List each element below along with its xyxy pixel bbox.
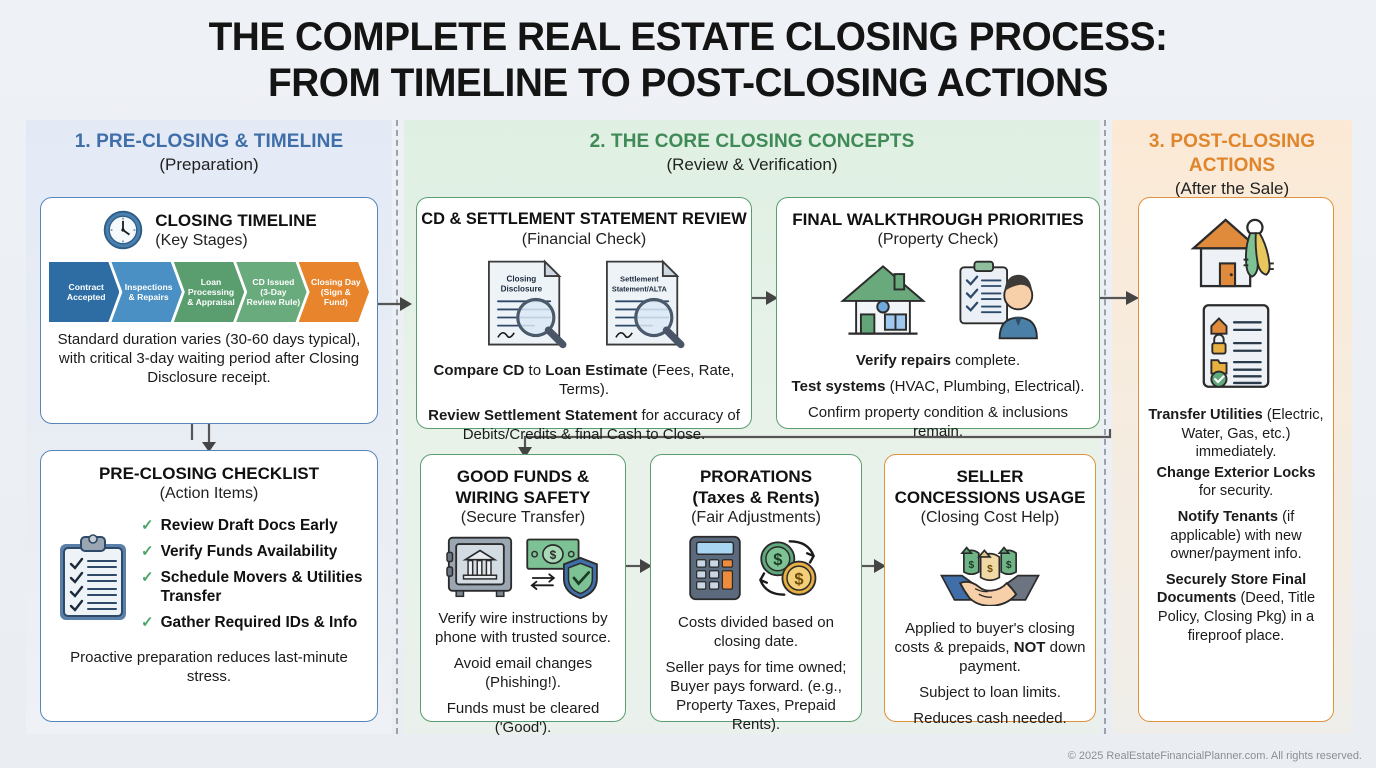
- secure-wire-transfer-icon: $: [523, 534, 603, 605]
- check-icon: ✓: [141, 516, 154, 535]
- coin-exchange-icon: $ $: [749, 534, 825, 607]
- timeline-note: Standard duration varies (30-60 days typ…: [55, 330, 363, 387]
- funds-subtitle: (Secure Transfer): [421, 508, 625, 528]
- column-2-subheading: (Review & Verification): [404, 154, 1100, 176]
- column-1-header: 1. PRE-CLOSING & TIMELINE (Preparation): [26, 130, 392, 176]
- walkthrough-body-line-3: Confirm property condition & inclusions …: [787, 403, 1089, 441]
- card-final-walkthrough[interactable]: FINAL WALKTHROUGH PRIORITIES (Property C…: [776, 197, 1100, 429]
- doc2-label-1: Settlement: [620, 274, 659, 283]
- house-keys-icon: [1184, 279, 1288, 296]
- settlement-statement-doc-icon: Settlement Statement/ALTA: [593, 258, 693, 355]
- checklist-item-2[interactable]: ✓Verify Funds Availability: [141, 542, 363, 561]
- doc1-label-1: Closing: [507, 274, 537, 283]
- column-3-heading: 3. POST-CLOSING ACTIONS: [1112, 130, 1352, 178]
- cd-icons: Closing Disclosure Settlement State: [417, 258, 751, 355]
- seller-body: Applied to buyer's closing costs & prepa…: [893, 619, 1087, 728]
- seller-title-1: SELLER: [885, 466, 1095, 487]
- doc1-label-2: Disclosure: [501, 284, 543, 293]
- copyright-footer: © 2025 RealEstateFinancialPlanner.com. A…: [1068, 750, 1362, 762]
- checklist-item-label: Verify Funds Availability: [161, 542, 338, 561]
- cd-subtitle: (Financial Check): [417, 230, 751, 250]
- svg-text:$: $: [987, 564, 993, 575]
- funds-body-line-3: Funds must be cleared ('Good').: [429, 699, 617, 737]
- clipboard-icon: [55, 532, 131, 624]
- walkthrough-icons: [777, 258, 1099, 347]
- post-item-1: Transfer Utilities (Electric, Water, Gas…: [1147, 406, 1325, 462]
- title-line-2: FROM TIMELINE TO POST-CLOSING ACTIONS: [21, 60, 1356, 106]
- timeline-stage-1[interactable]: Contract Accepted: [49, 262, 119, 322]
- clock-icon: [101, 208, 145, 252]
- handshake-money-icon: $ $ $: [934, 534, 1046, 611]
- column-1-heading: 1. PRE-CLOSING & TIMELINE: [26, 130, 392, 154]
- prorations-title-1: PRORATIONS: [651, 466, 861, 487]
- funds-title-1: GOOD FUNDS &: [421, 466, 625, 487]
- timeline-title: CLOSING TIMELINE: [155, 210, 317, 231]
- title-line-1: THE COMPLETE REAL ESTATE CLOSING PROCESS…: [21, 14, 1356, 60]
- prorations-subtitle: (Fair Adjustments): [651, 508, 861, 528]
- card-cd-settlement-review[interactable]: CD & SETTLEMENT STATEMENT REVIEW (Financ…: [416, 197, 752, 429]
- checklist-item-label: Gather Required IDs & Info: [161, 613, 358, 632]
- walkthrough-body: Verify repairs complete. Test systems (H…: [787, 351, 1089, 441]
- connector-funds-to-prorations: [626, 556, 652, 576]
- house-icon: [835, 258, 931, 347]
- seller-body-line-1: Applied to buyer's closing costs & prepa…: [893, 619, 1087, 676]
- seller-subtitle: (Closing Cost Help): [885, 508, 1095, 528]
- checklist-item-label: Review Draft Docs Early: [161, 516, 338, 535]
- column-1-subheading: (Preparation): [26, 154, 392, 176]
- seller-body-line-2: Subject to loan limits.: [893, 683, 1087, 702]
- prorations-title-2: (Taxes & Rents): [651, 487, 861, 508]
- svg-text:$: $: [794, 570, 803, 589]
- column-divider-2: [1104, 120, 1106, 734]
- page-title: THE COMPLETE REAL ESTATE CLOSING PROCESS…: [0, 14, 1376, 106]
- funds-icons: $: [421, 534, 625, 605]
- infographic-canvas: THE COMPLETE REAL ESTATE CLOSING PROCESS…: [0, 0, 1376, 768]
- checklist-items: ✓Review Draft Docs Early✓Verify Funds Av…: [141, 516, 363, 639]
- walkthrough-title: FINAL WALKTHROUGH PRIORITIES: [777, 209, 1099, 230]
- funds-body-line-1: Verify wire instructions by phone with t…: [429, 609, 617, 647]
- svg-text:$: $: [773, 550, 782, 569]
- post-item-4: Securely Store Final Documents (Deed, Ti…: [1147, 571, 1325, 645]
- cd-title: CD & SETTLEMENT STATEMENT REVIEW: [417, 209, 751, 230]
- column-2-header: 2. THE CORE CLOSING CONCEPTS (Review & V…: [404, 130, 1100, 176]
- prorations-icons: $ $: [651, 534, 861, 607]
- card-closing-timeline[interactable]: CLOSING TIMELINE (Key Stages) Contract A…: [40, 197, 378, 424]
- connector-timeline-to-checklist: [198, 424, 220, 452]
- timeline-stage-5[interactable]: Closing Day (Sign & Fund): [299, 262, 369, 322]
- card-prorations[interactable]: PRORATIONS (Taxes & Rents) (Fair Adjustm…: [650, 454, 862, 722]
- cd-body: Compare CD to Loan Estimate (Fees, Rate,…: [427, 361, 741, 444]
- calculator-icon: [687, 534, 743, 607]
- timeline-subtitle: (Key Stages): [155, 231, 317, 251]
- card-pre-closing-checklist[interactable]: PRE-CLOSING CHECKLIST (Action Items): [40, 450, 378, 722]
- check-icon: ✓: [141, 568, 154, 587]
- secure-documents-icon: [1200, 378, 1272, 395]
- timeline-stages: Contract AcceptedInspections & RepairsLo…: [49, 262, 369, 322]
- checklist-item-label: Schedule Movers & Utilities Transfer: [161, 568, 363, 606]
- post-item-3: Notify Tenants (if applicable) with new …: [1147, 508, 1325, 564]
- card-good-funds-wiring[interactable]: GOOD FUNDS & WIRING SAFETY (Secure Trans…: [420, 454, 626, 722]
- timeline-header: CLOSING TIMELINE (Key Stages): [41, 208, 377, 252]
- prorations-body-line-2: Seller pays for time owned; Buyer pays f…: [659, 658, 853, 734]
- card-post-closing-actions[interactable]: Transfer Utilities (Electric, Water, Gas…: [1138, 197, 1334, 722]
- walkthrough-subtitle: (Property Check): [777, 230, 1099, 250]
- funds-body-line-2: Avoid email changes (Phishing!).: [429, 654, 617, 692]
- checklist-item-4[interactable]: ✓Gather Required IDs & Info: [141, 613, 363, 632]
- column-2-heading: 2. THE CORE CLOSING CONCEPTS: [404, 130, 1100, 154]
- column-3-header: 3. POST-CLOSING ACTIONS (After the Sale): [1112, 130, 1352, 200]
- svg-text:$: $: [968, 560, 974, 571]
- connector-cd-to-walkthrough: [752, 288, 778, 308]
- timeline-stage-4[interactable]: CD Issued (3-Day Review Rule): [236, 262, 306, 322]
- check-icon: ✓: [141, 542, 154, 561]
- svg-text:$: $: [1006, 560, 1012, 571]
- timeline-stage-3[interactable]: Loan Processing & Appraisal: [174, 262, 244, 322]
- cd-body-line-1: Compare CD to Loan Estimate (Fees, Rate,…: [427, 361, 741, 399]
- checklist-title: PRE-CLOSING CHECKLIST: [41, 463, 377, 484]
- svg-text:$: $: [550, 548, 557, 562]
- walkthrough-body-line-1: Verify repairs complete.: [787, 351, 1089, 370]
- closing-disclosure-doc-icon: Closing Disclosure: [475, 258, 575, 355]
- seller-icons: $ $ $: [885, 534, 1095, 611]
- funds-body: Verify wire instructions by phone with t…: [429, 609, 617, 737]
- cd-body-line-2: Review Settlement Statement for accuracy…: [427, 406, 741, 444]
- post-house-keys-wrap: [1139, 214, 1333, 297]
- inspector-clipboard-icon: [947, 258, 1041, 347]
- timeline-stage-2[interactable]: Inspections & Repairs: [111, 262, 181, 322]
- funds-title-2: WIRING SAFETY: [421, 487, 625, 508]
- prorations-body-line-1: Costs divided based on closing date.: [659, 613, 853, 651]
- prorations-body: Costs divided based on closing date. Sel…: [659, 613, 853, 734]
- post-docs-wrap: [1139, 301, 1333, 396]
- card-seller-concessions[interactable]: SELLER CONCESSIONS USAGE (Closing Cost H…: [884, 454, 1096, 722]
- seller-body-line-3: Reduces cash needed.: [893, 709, 1087, 728]
- check-icon: ✓: [141, 613, 154, 632]
- doc2-label-2: Statement/ALTA: [612, 284, 668, 293]
- checklist-subtitle: (Action Items): [41, 484, 377, 504]
- bank-safe-icon: [443, 534, 517, 605]
- checklist-item-3[interactable]: ✓Schedule Movers & Utilities Transfer: [141, 568, 363, 606]
- seller-title-2: CONCESSIONS USAGE: [885, 487, 1095, 508]
- post-closing-body: Transfer Utilities (Electric, Water, Gas…: [1147, 406, 1325, 645]
- checklist-note: Proactive preparation reduces last-minut…: [57, 648, 361, 686]
- post-item-2: Change Exterior Locks for security.: [1147, 464, 1325, 501]
- walkthrough-body-line-2: Test systems (HVAC, Plumbing, Electrical…: [787, 377, 1089, 396]
- checklist-item-1[interactable]: ✓Review Draft Docs Early: [141, 516, 363, 535]
- connector-prorations-to-seller: [860, 556, 886, 576]
